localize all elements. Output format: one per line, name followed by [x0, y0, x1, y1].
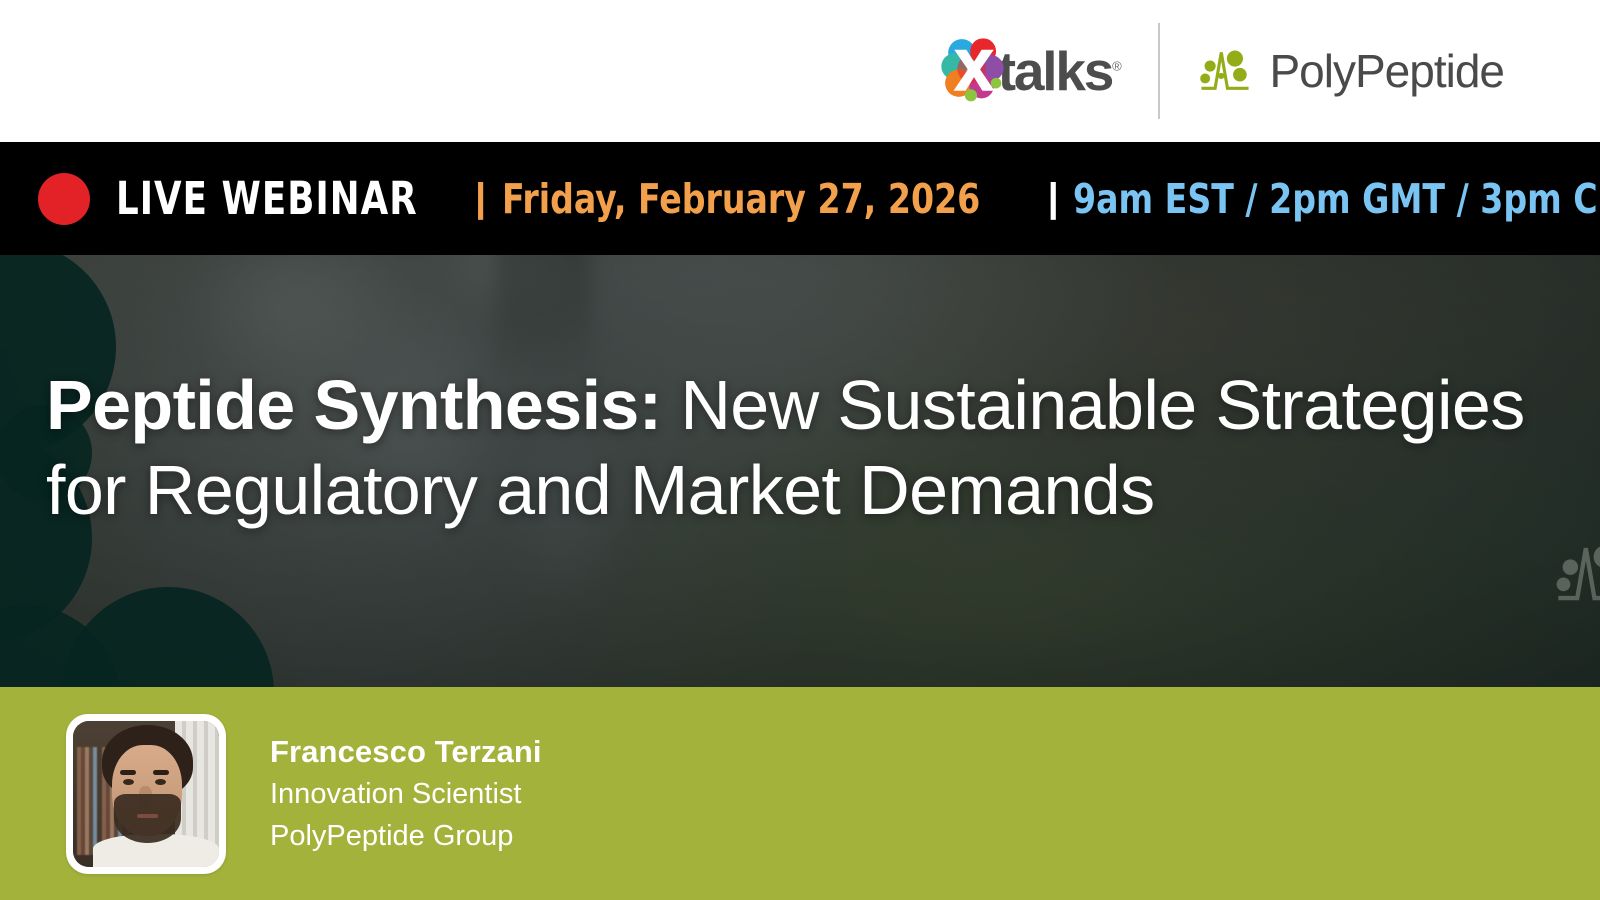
polypeptide-wordmark: PolyPeptide	[1270, 48, 1505, 94]
xtalks-wordmark: talks®	[998, 44, 1120, 99]
banner-separator-2: |	[1048, 176, 1059, 221]
hero-section: Peptide Synthesis: New Sustainable Strat…	[0, 255, 1600, 687]
banner-separator-1: |	[475, 176, 486, 221]
logo-group: talks® PolyPep	[936, 23, 1504, 119]
photo-eyebrow	[120, 770, 136, 774]
logo-header: talks® PolyPep	[0, 0, 1600, 142]
live-webinar-banner: LIVE WEBINAR | Friday, February 27, 2026…	[0, 142, 1600, 255]
speaker-details: Francesco Terzani Innovation Scientist P…	[270, 730, 542, 858]
header-divider	[1158, 23, 1160, 119]
decor-circle	[62, 587, 274, 687]
polypeptide-watermark-icon	[1548, 531, 1600, 617]
webinar-promo-banner: talks® PolyPep	[0, 0, 1600, 900]
photo-eyebrow	[153, 770, 169, 774]
live-webinar-label: LIVE WEBINAR	[116, 172, 418, 225]
webinar-date: Friday, February 27, 2026	[502, 175, 980, 223]
xtalks-wordmark-text: talks	[998, 40, 1112, 102]
webinar-title: Peptide Synthesis: New Sustainable Strat…	[46, 363, 1566, 534]
speaker-headshot-image	[73, 721, 219, 867]
live-red-dot-icon	[38, 173, 90, 225]
xtalks-logo[interactable]: talks®	[936, 33, 1120, 109]
polypeptide-logo[interactable]: PolyPeptide	[1194, 40, 1505, 102]
speaker-name: Francesco Terzani	[270, 730, 542, 774]
speaker-section: Francesco Terzani Innovation Scientist P…	[0, 687, 1600, 900]
photo-beard	[114, 794, 181, 844]
title-bold-part: Peptide Synthesis:	[46, 366, 661, 444]
webinar-times: 9am EST / 2pm GMT / 3pm CET	[1073, 175, 1600, 223]
photo-mouth	[137, 814, 157, 818]
speaker-role: Innovation Scientist	[270, 774, 542, 816]
polypeptide-peak-icon	[1194, 40, 1256, 102]
speaker-avatar	[66, 714, 226, 874]
banner-content: LIVE WEBINAR | Friday, February 27, 2026…	[116, 172, 1600, 225]
xtalks-flower-icon	[936, 33, 1012, 109]
speaker-organization: PolyPeptide Group	[270, 816, 542, 858]
registered-mark: ®	[1112, 58, 1119, 73]
